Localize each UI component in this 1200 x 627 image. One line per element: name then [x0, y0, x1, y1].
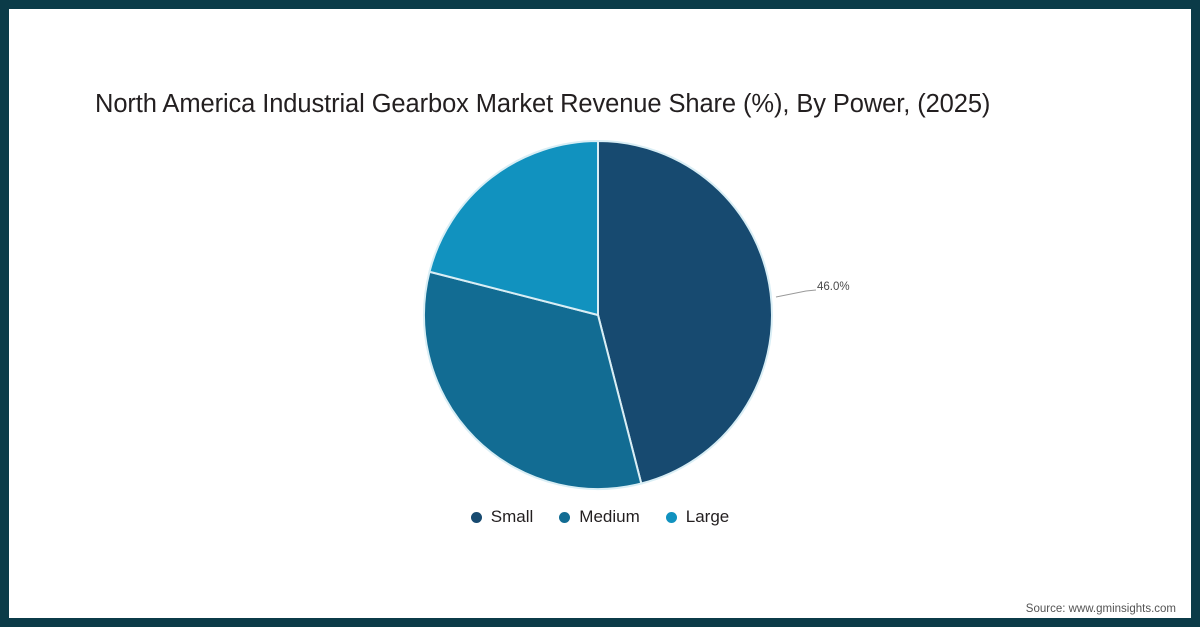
pie-chart-svg	[0, 0, 1200, 627]
legend-label-large: Large	[686, 507, 729, 527]
legend-label-medium: Medium	[579, 507, 639, 527]
chart-legend: Small Medium Large	[0, 507, 1200, 527]
legend-swatch-small-icon	[471, 512, 482, 523]
legend-item-medium[interactable]: Medium	[559, 507, 639, 527]
pie-slice-group	[424, 141, 772, 489]
legend-swatch-medium-icon	[559, 512, 570, 523]
legend-label-small: Small	[491, 507, 534, 527]
source-attribution: Source: www.gminsights.com	[1026, 603, 1176, 615]
chart-page: North America Industrial Gearbox Market …	[0, 0, 1200, 627]
legend-item-small[interactable]: Small	[471, 507, 534, 527]
legend-item-large[interactable]: Large	[666, 507, 729, 527]
data-label-small: 46.0%	[817, 281, 850, 293]
leader-line-small	[776, 290, 816, 297]
pie-chart: 46.0%	[0, 0, 1200, 627]
legend-swatch-large-icon	[666, 512, 677, 523]
